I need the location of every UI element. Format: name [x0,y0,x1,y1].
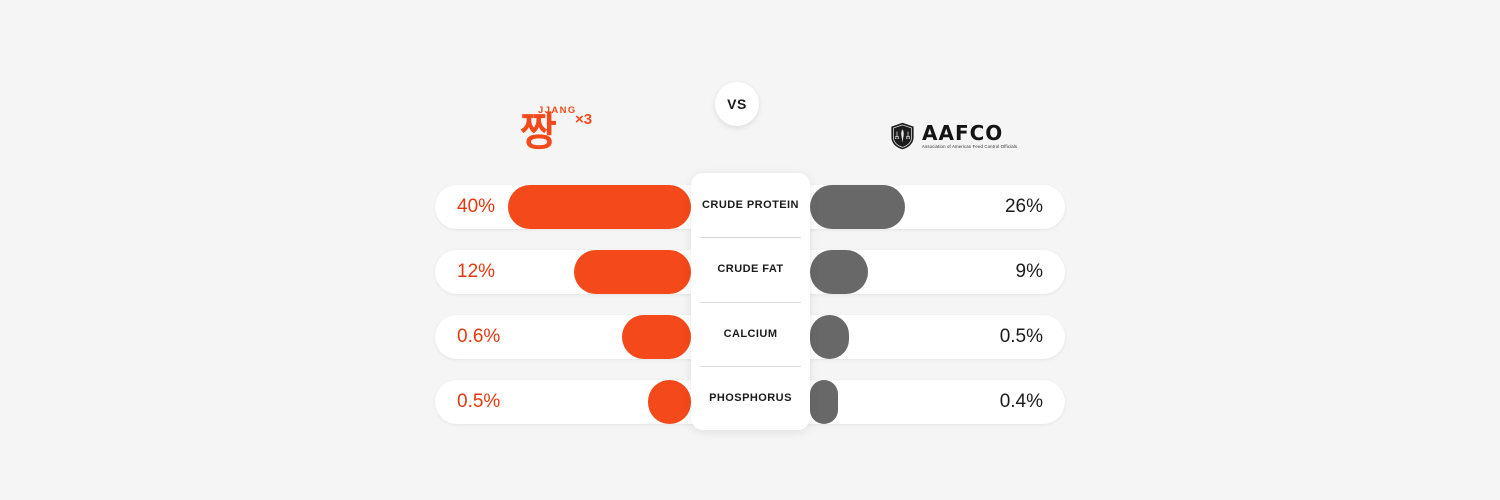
value-jjang: 0.5% [457,380,500,424]
bar-jjang [622,315,691,359]
value-aafco: 0.4% [1000,380,1043,424]
value-aafco: 9% [1016,250,1043,294]
jjang-hangul-glyph: 짱 [520,112,557,152]
nutrient-label: PHOSPHORUS [691,366,810,430]
vs-label: VS [727,96,747,112]
value-jjang: 12% [457,250,495,294]
aafco-name: AAFCO [922,123,1017,143]
bar-jjang [574,250,691,294]
brand-header: JJANG 짱 ×3 VS AAFCO Association of Ameri… [435,100,1065,170]
aafco-logo: AAFCO Association of American Feed Contr… [890,116,1070,156]
vs-badge: VS [715,82,759,126]
bar-jjang [508,185,691,229]
bar-aafco [810,185,905,229]
nutrient-label-card: CRUDE PROTEIN CRUDE FAT CALCIUM PHOSPHOR… [691,173,810,430]
bar-aafco [810,250,868,294]
value-jjang: 0.6% [457,315,500,359]
comparison-chart-stage: JJANG 짱 ×3 VS AAFCO Association of Ameri… [0,0,1500,500]
value-aafco: 0.5% [1000,315,1043,359]
nutrient-label: CRUDE FAT [691,237,810,301]
jjang-logo: JJANG 짱 ×3 [520,100,630,172]
value-aafco: 26% [1005,185,1043,229]
bar-aafco [810,315,849,359]
nutrient-label: CALCIUM [691,302,810,366]
jjang-multiplier: ×3 [575,111,592,128]
aafco-subtitle: Association of American Feed Control Off… [922,145,1017,149]
aafco-text-block: AAFCO Association of American Feed Contr… [922,123,1017,149]
aafco-shield-icon [890,122,915,150]
value-jjang: 40% [457,185,495,229]
bar-aafco [810,380,838,424]
nutrient-label: CRUDE PROTEIN [691,173,810,237]
bar-jjang [648,380,691,424]
